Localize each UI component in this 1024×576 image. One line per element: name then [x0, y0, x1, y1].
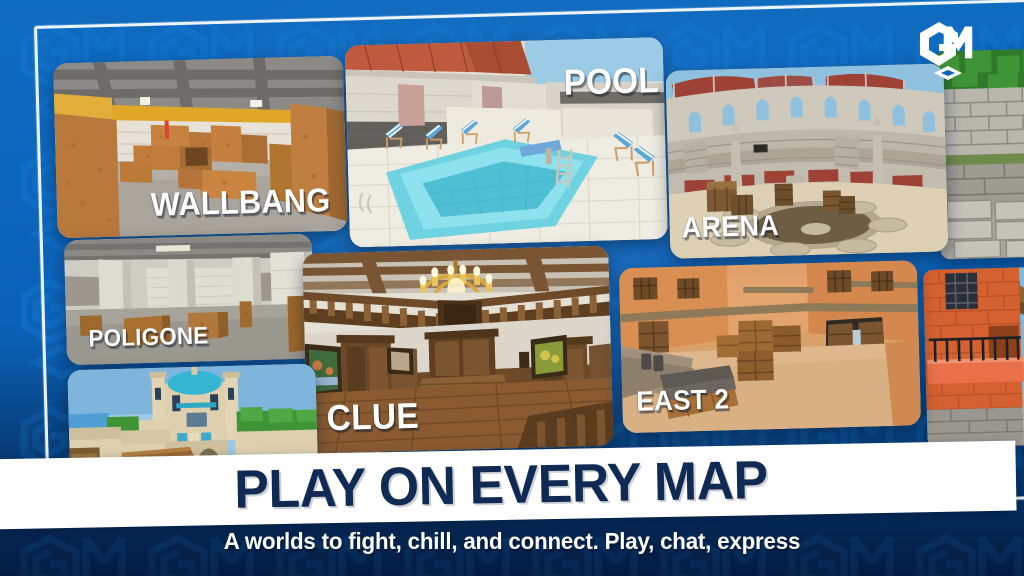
map-card-arena[interactable]: ARENA [665, 63, 948, 258]
gm-cube-logo [912, 14, 984, 86]
map-label-poligone: POLIGONE [88, 322, 209, 353]
map-card-poligone[interactable]: POLIGONE [64, 234, 315, 366]
map-card-brick-house[interactable] [923, 267, 1024, 448]
map-thumbnail-brick-house [923, 267, 1024, 448]
subtitle: A worlds to fight, chill, and connect. P… [15, 528, 1008, 555]
map-card-wallbang[interactable]: WALLBANG [53, 56, 348, 239]
map-label-clue: CLUE [326, 395, 419, 439]
map-label-wallbang: WALLBANG [150, 181, 330, 224]
map-label-east2: EAST 2 [636, 383, 730, 417]
map-label-arena: ARENA [681, 210, 779, 246]
page-title: PLAY ON EVERY MAP [6, 445, 996, 525]
map-label-pool: POOL [563, 59, 659, 104]
map-card-east2[interactable]: EAST 2 [619, 260, 921, 433]
map-card-clue[interactable]: CLUE [302, 246, 613, 454]
